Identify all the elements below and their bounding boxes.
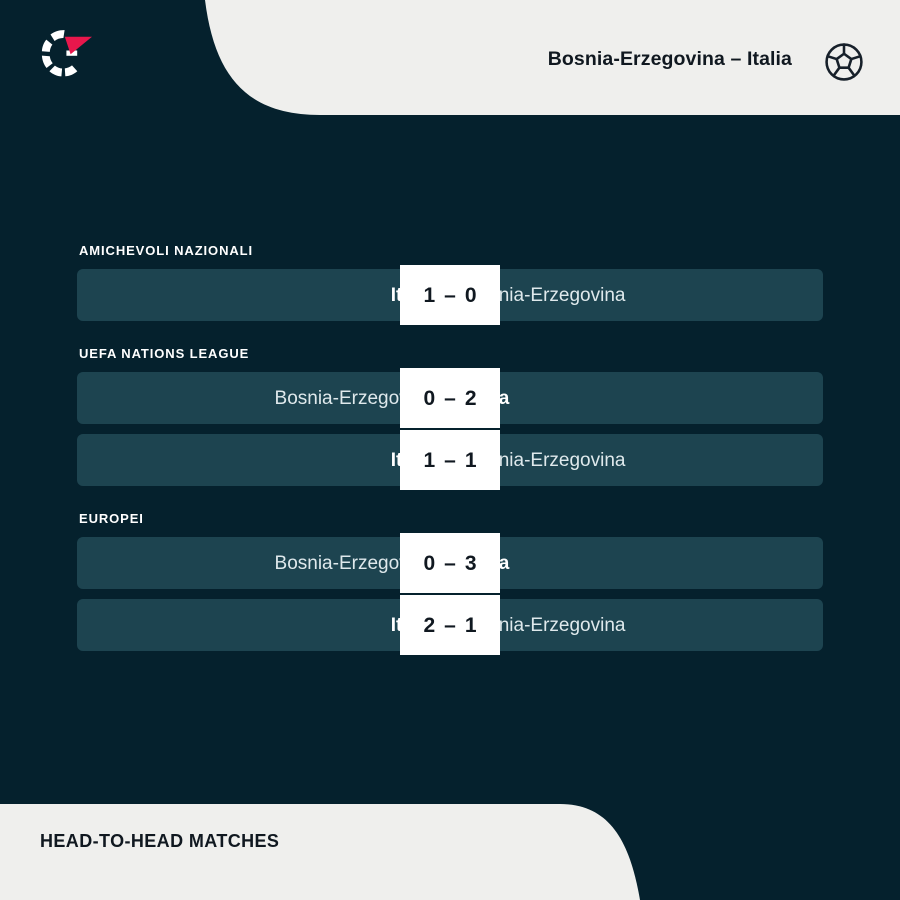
score-badge: 2 – 1 [400, 595, 500, 655]
score-separator: – [444, 388, 456, 409]
flashscore-logo-icon[interactable] [26, 24, 98, 84]
score-badge: 0 – 2 [400, 368, 500, 428]
home-score: 1 [423, 450, 435, 471]
away-score: 1 [465, 450, 477, 471]
away-score: 1 [465, 615, 477, 636]
competition-label: UEFA NATIONS LEAGUE [79, 346, 823, 362]
score-badge: 1 – 1 [400, 430, 500, 490]
away-team-name: Bosnia-Erzegovina [450, 269, 823, 321]
away-team-name: Bosnia-Erzegovina [450, 599, 823, 651]
away-team-name: Bosnia-Erzegovina [450, 434, 823, 486]
score-separator: – [444, 450, 456, 471]
table-row[interactable]: Bosnia-Erzegovina 0 – 2 Italia [77, 372, 823, 424]
header-bar: Bosnia-Erzegovina – Italia [0, 0, 900, 118]
football-icon [816, 34, 872, 90]
away-score: 0 [465, 285, 477, 306]
away-team-name: Italia [450, 372, 823, 424]
score-badge: 1 – 0 [400, 265, 500, 325]
home-team-name: Italia [77, 269, 450, 321]
home-team-name: Italia [77, 599, 450, 651]
head-to-head-groups: AMICHEVOLI NAZIONALI Italia 1 – 0 Bosnia… [77, 243, 823, 651]
competition-group: UEFA NATIONS LEAGUE Bosnia-Erzegovina 0 … [77, 346, 823, 486]
footer-heading: HEAD-TO-HEAD MATCHES [40, 782, 279, 900]
competition-label: AMICHEVOLI NAZIONALI [79, 243, 823, 259]
home-score: 2 [423, 615, 435, 636]
logo-glyph [26, 24, 98, 84]
away-score: 3 [465, 553, 477, 574]
table-row[interactable]: Bosnia-Erzegovina 0 – 3 Italia [77, 537, 823, 589]
score-separator: – [444, 615, 456, 636]
screenshot-root: Bosnia-Erzegovina – Italia [0, 0, 900, 900]
score-separator: – [444, 285, 456, 306]
table-row[interactable]: Italia 1 – 1 Bosnia-Erzegovina [77, 434, 823, 486]
home-score: 0 [423, 553, 435, 574]
footer-bar: HEAD-TO-HEAD MATCHES [0, 782, 900, 900]
header-content: Bosnia-Erzegovina – Italia [0, 0, 900, 118]
score-badge: 0 – 3 [400, 533, 500, 593]
football-glyph [822, 40, 866, 84]
score-separator: – [444, 553, 456, 574]
table-row[interactable]: Italia 2 – 1 Bosnia-Erzegovina [77, 599, 823, 651]
home-score: 1 [423, 285, 435, 306]
home-team-name: Bosnia-Erzegovina [77, 372, 450, 424]
main-content: AMICHEVOLI NAZIONALI Italia 1 – 0 Bosnia… [0, 118, 900, 808]
page-title: Bosnia-Erzegovina – Italia [548, 0, 792, 118]
away-team-name: Italia [450, 537, 823, 589]
competition-group: EUROPEI Bosnia-Erzegovina 0 – 3 Italia I… [77, 511, 823, 651]
competition-group: AMICHEVOLI NAZIONALI Italia 1 – 0 Bosnia… [77, 243, 823, 321]
competition-label: EUROPEI [79, 511, 823, 527]
home-team-name: Bosnia-Erzegovina [77, 537, 450, 589]
away-score: 2 [465, 388, 477, 409]
home-score: 0 [423, 388, 435, 409]
home-team-name: Italia [77, 434, 450, 486]
table-row[interactable]: Italia 1 – 0 Bosnia-Erzegovina [77, 269, 823, 321]
